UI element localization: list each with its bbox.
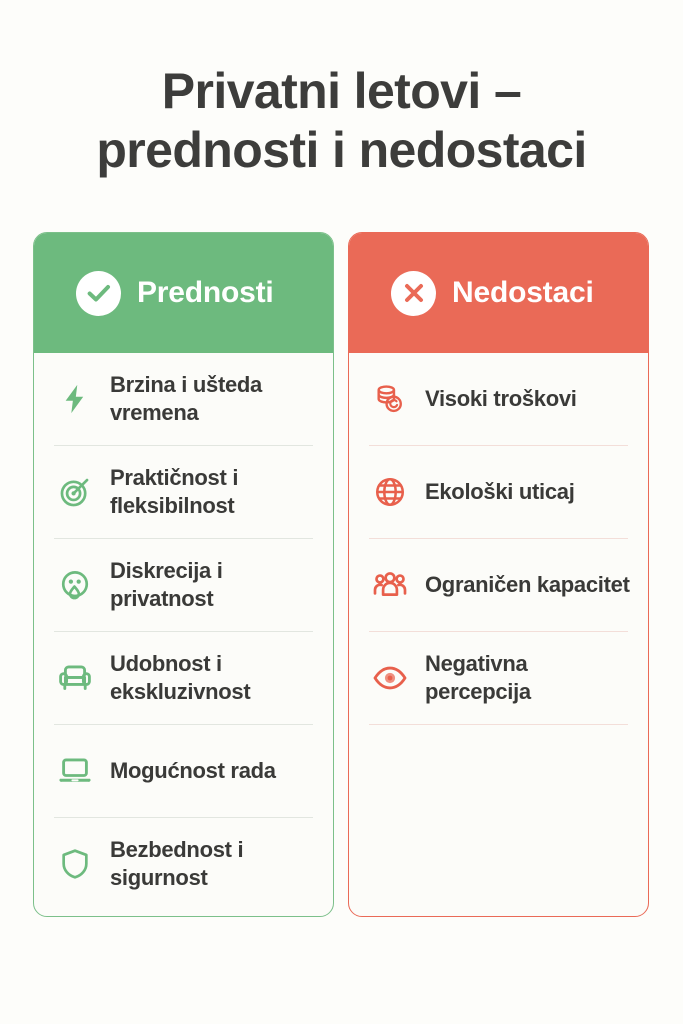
shield-icon [52, 847, 98, 881]
list-item-label: Diskrecija i privatnost [110, 557, 315, 612]
list-item-label: Ekološki uticaj [425, 478, 575, 506]
incognito-mask-icon [52, 568, 98, 602]
list-item-label: Bezbednost i sigurnost [110, 836, 315, 891]
cons-card: Nedostaci Visoki troškovi [348, 232, 649, 917]
list-item-label: Udobnost i ekskluzivnost [110, 650, 315, 705]
page-title-line-2: prednosti i nedostaci [0, 121, 683, 180]
comparison-cards: Prednosti Brzina i ušteda vremena [33, 232, 650, 917]
pros-list: Brzina i ušteda vremena Praktičnost i fl… [34, 353, 333, 910]
people-group-icon [367, 567, 413, 603]
pros-card-title: Prednosti [137, 276, 274, 310]
list-item-label: Brzina i ušteda vremena [110, 371, 315, 426]
list-item: Praktičnost i fleksibilnost [52, 446, 315, 538]
page-title-line-1: Privatni letovi – [0, 62, 683, 121]
laptop-icon [52, 753, 98, 789]
list-item-label: Ograničen kapacitet [425, 571, 630, 599]
list-item-label: Visoki troškovi [425, 385, 577, 413]
armchair-icon [52, 660, 98, 696]
target-icon [52, 475, 98, 509]
globe-icon [367, 475, 413, 509]
page-title: Privatni letovi – prednosti i nedostaci [0, 62, 683, 180]
pros-card-header: Prednosti [34, 233, 333, 353]
cons-card-title: Nedostaci [452, 276, 594, 310]
list-item-label: Negativna percepcija [425, 650, 630, 705]
list-item-label: Praktičnost i fleksibilnost [110, 464, 315, 519]
list-item: Ograničen kapacitet [367, 539, 630, 631]
x-circle-icon [391, 271, 436, 316]
pros-card: Prednosti Brzina i ušteda vremena [33, 232, 334, 917]
cons-card-header: Nedostaci [349, 233, 648, 353]
check-circle-icon [76, 271, 121, 316]
lightning-bolt-icon [52, 382, 98, 416]
list-item: Ekološki uticaj [367, 446, 630, 538]
coins-icon [367, 382, 413, 416]
eye-icon [367, 660, 413, 696]
list-item: Udobnost i ekskluzivnost [52, 632, 315, 724]
list-item: Brzina i ušteda vremena [52, 353, 315, 445]
list-item: Mogućnost rada [52, 725, 315, 817]
list-item-label: Mogućnost rada [110, 757, 276, 785]
list-item: Negativna percepcija [367, 632, 630, 724]
list-divider [369, 724, 628, 725]
cons-list: Visoki troškovi Ekološki uticaj [349, 353, 648, 725]
list-item: Bezbednost i sigurnost [52, 818, 315, 910]
list-item: Visoki troškovi [367, 353, 630, 445]
list-item: Diskrecija i privatnost [52, 539, 315, 631]
